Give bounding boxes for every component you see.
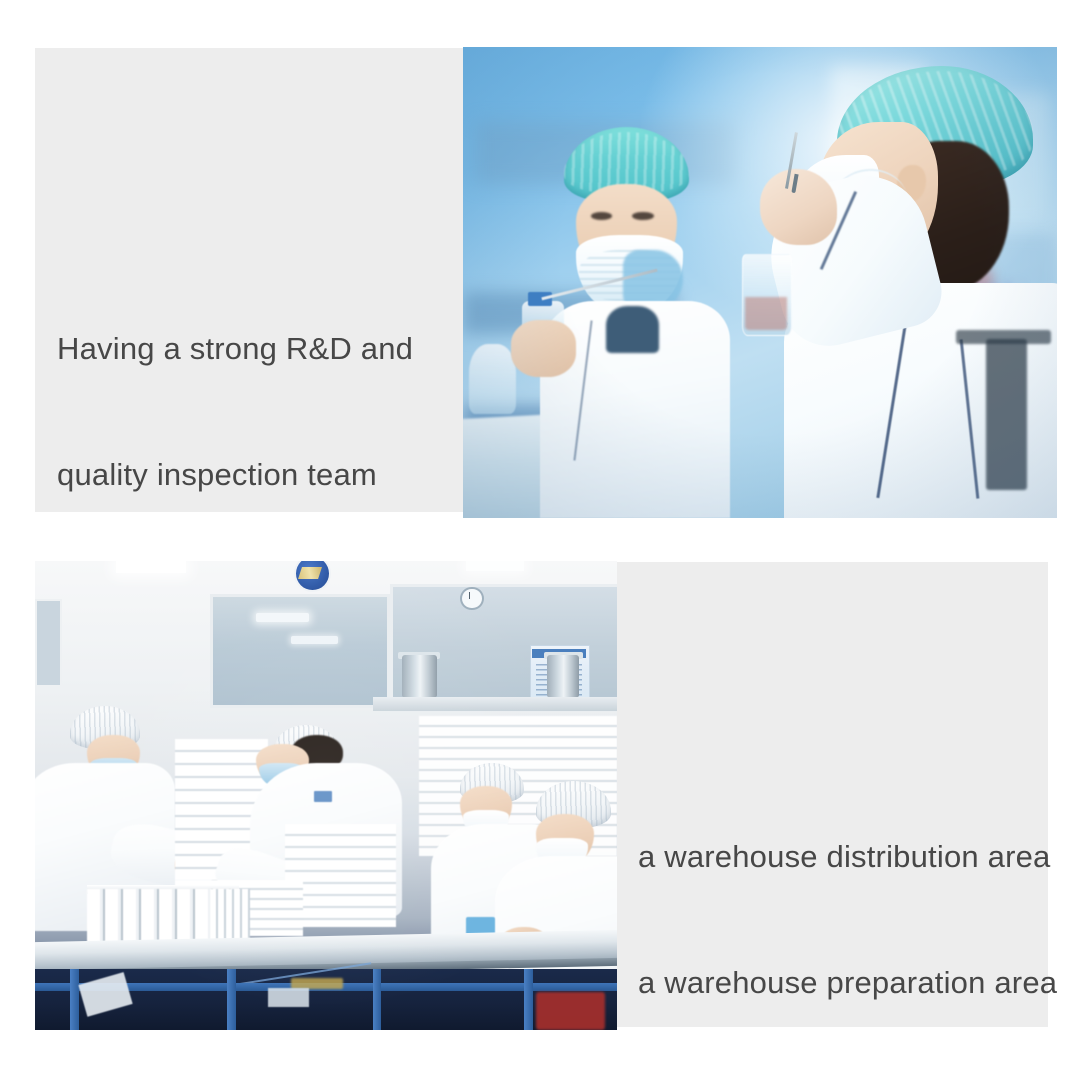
poster-root: Having a strong R&D and quality inspecti… (0, 0, 1080, 1080)
lab-photo-vignette (463, 47, 1057, 518)
rd-caption-line-2: quality inspection team (57, 454, 457, 496)
warehouse-caption-line-1: a warehouse distribution area (638, 836, 1038, 878)
rd-caption-line-1: Having a strong R&D and (57, 328, 457, 370)
warehouse-caption-block: a warehouse distribution area a warehous… (638, 752, 1038, 1088)
warehouse-packing-area-photo (35, 561, 617, 1030)
rd-caption-block: Having a strong R&D and quality inspecti… (57, 244, 457, 580)
warehouse-photo-light-overlay (35, 561, 617, 1030)
laboratory-quality-inspection-photo (463, 47, 1057, 518)
warehouse-caption-line-2: a warehouse preparation area (638, 962, 1038, 1004)
